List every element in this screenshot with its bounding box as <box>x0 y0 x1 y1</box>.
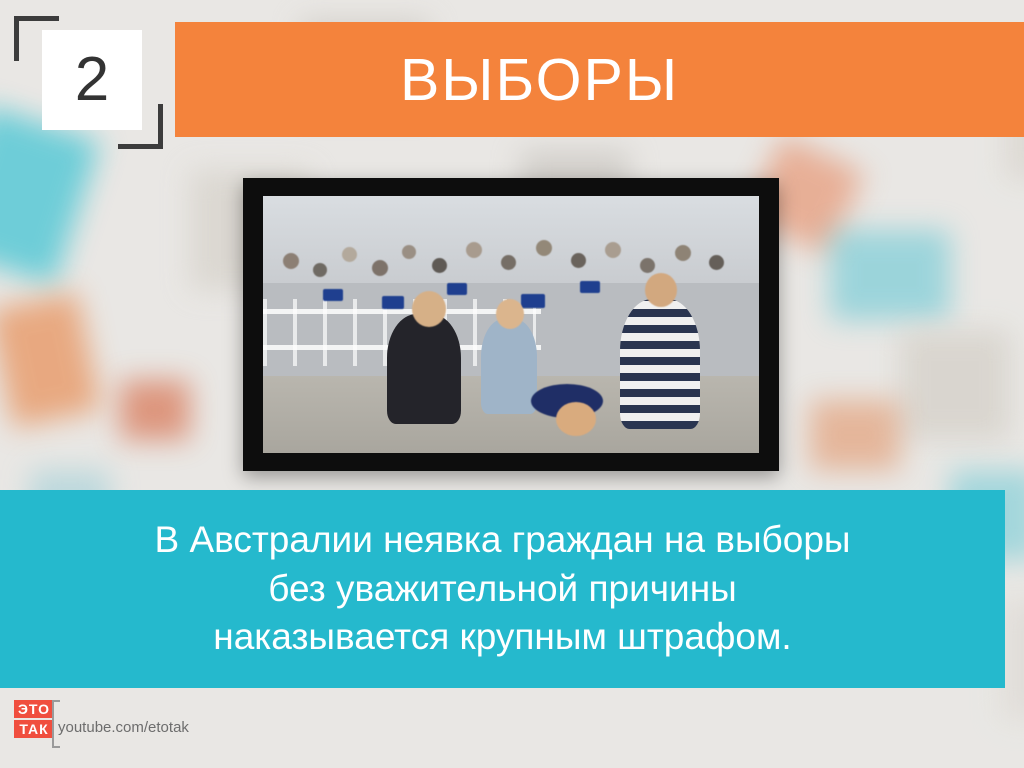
crowd-person <box>402 245 416 259</box>
crowd-person <box>571 253 586 268</box>
photo-frame <box>243 178 779 471</box>
crowd-foreground-person-head <box>645 273 677 307</box>
page-title: ВЫБОРЫ <box>400 46 799 114</box>
australian-flag <box>521 294 545 308</box>
crowd-person <box>536 240 552 256</box>
background-blob <box>830 230 950 320</box>
title-bar: ВЫБОРЫ <box>175 22 1024 137</box>
caption-line: наказывается крупным штрафом. <box>154 613 850 662</box>
caption-line: без уважительной причины <box>154 565 850 614</box>
australian-flag <box>323 289 343 301</box>
crowd-foreground-person-head <box>412 291 446 327</box>
australian-flag <box>447 283 467 295</box>
crowd-foreground-person <box>481 319 537 414</box>
background-blob <box>120 380 190 440</box>
background-blob <box>900 330 1010 440</box>
photo-sky <box>263 196 759 283</box>
caption-band: В Австралии неявка граждан на выборы без… <box>0 490 1005 688</box>
etotak-logo: ЭТО ТАК <box>14 700 54 738</box>
caption-line: В Австралии неявка граждан на выборы <box>154 516 850 565</box>
crowd-person <box>675 245 691 261</box>
child-face <box>556 402 596 436</box>
crowd-foreground-person-head <box>496 299 524 329</box>
slide-number-text: 2 <box>42 30 142 130</box>
australian-flag <box>382 296 404 309</box>
footer-url[interactable]: youtube.com/etotak <box>58 719 189 736</box>
crowd-photo <box>263 196 759 453</box>
crowd-foreground-person <box>387 314 461 424</box>
crowd-person <box>283 253 299 269</box>
slide: 2 ВЫБОРЫ <box>0 0 1024 768</box>
footer: ЭТО ТАК youtube.com/etotak <box>14 700 189 738</box>
logo-line-2: ТАК <box>14 720 54 738</box>
background-blob <box>810 400 900 470</box>
crowd-person <box>640 258 655 273</box>
crowd-foreground-person <box>620 299 700 429</box>
crowd-person <box>313 263 327 277</box>
logo-line-1: ЭТО <box>14 700 54 718</box>
australian-flag <box>580 281 600 293</box>
caption-text: В Австралии неявка граждан на выборы без… <box>128 516 876 662</box>
crowd-person <box>432 258 447 273</box>
slide-number-badge: 2 <box>14 16 162 148</box>
